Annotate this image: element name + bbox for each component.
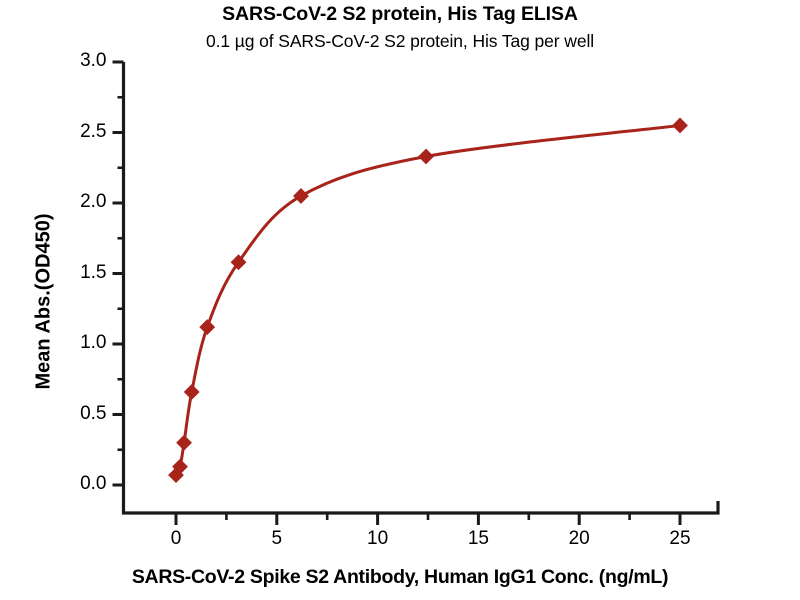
data-point-6 <box>294 189 308 203</box>
y-tick-label: 0.5 <box>43 403 107 425</box>
x-tick-label: 15 <box>448 528 508 550</box>
data-point-4 <box>200 320 214 334</box>
x-tick-label: 20 <box>549 528 609 550</box>
data-curve <box>176 125 680 475</box>
y-tick-label: 0.0 <box>43 473 107 495</box>
y-tick-label: 3.0 <box>43 50 107 72</box>
x-tick-label: 5 <box>247 528 307 550</box>
data-markers <box>169 118 687 482</box>
x-tick-label: 25 <box>650 528 710 550</box>
y-tick-label: 2.0 <box>43 191 107 213</box>
y-tick-label: 1.5 <box>43 262 107 284</box>
elisa-chart-figure: SARS-CoV-2 S2 protein, His Tag ELISA 0.1… <box>0 0 800 600</box>
plot-area <box>0 0 800 600</box>
axis-ticks <box>113 62 681 525</box>
data-point-2 <box>177 436 191 450</box>
data-point-7 <box>419 149 433 163</box>
y-tick-label: 2.5 <box>43 121 107 143</box>
data-point-3 <box>185 385 199 399</box>
data-point-8 <box>673 118 687 132</box>
y-tick-label: 1.0 <box>43 332 107 354</box>
x-tick-label: 10 <box>348 528 408 550</box>
x-tick-label: 0 <box>146 528 206 550</box>
